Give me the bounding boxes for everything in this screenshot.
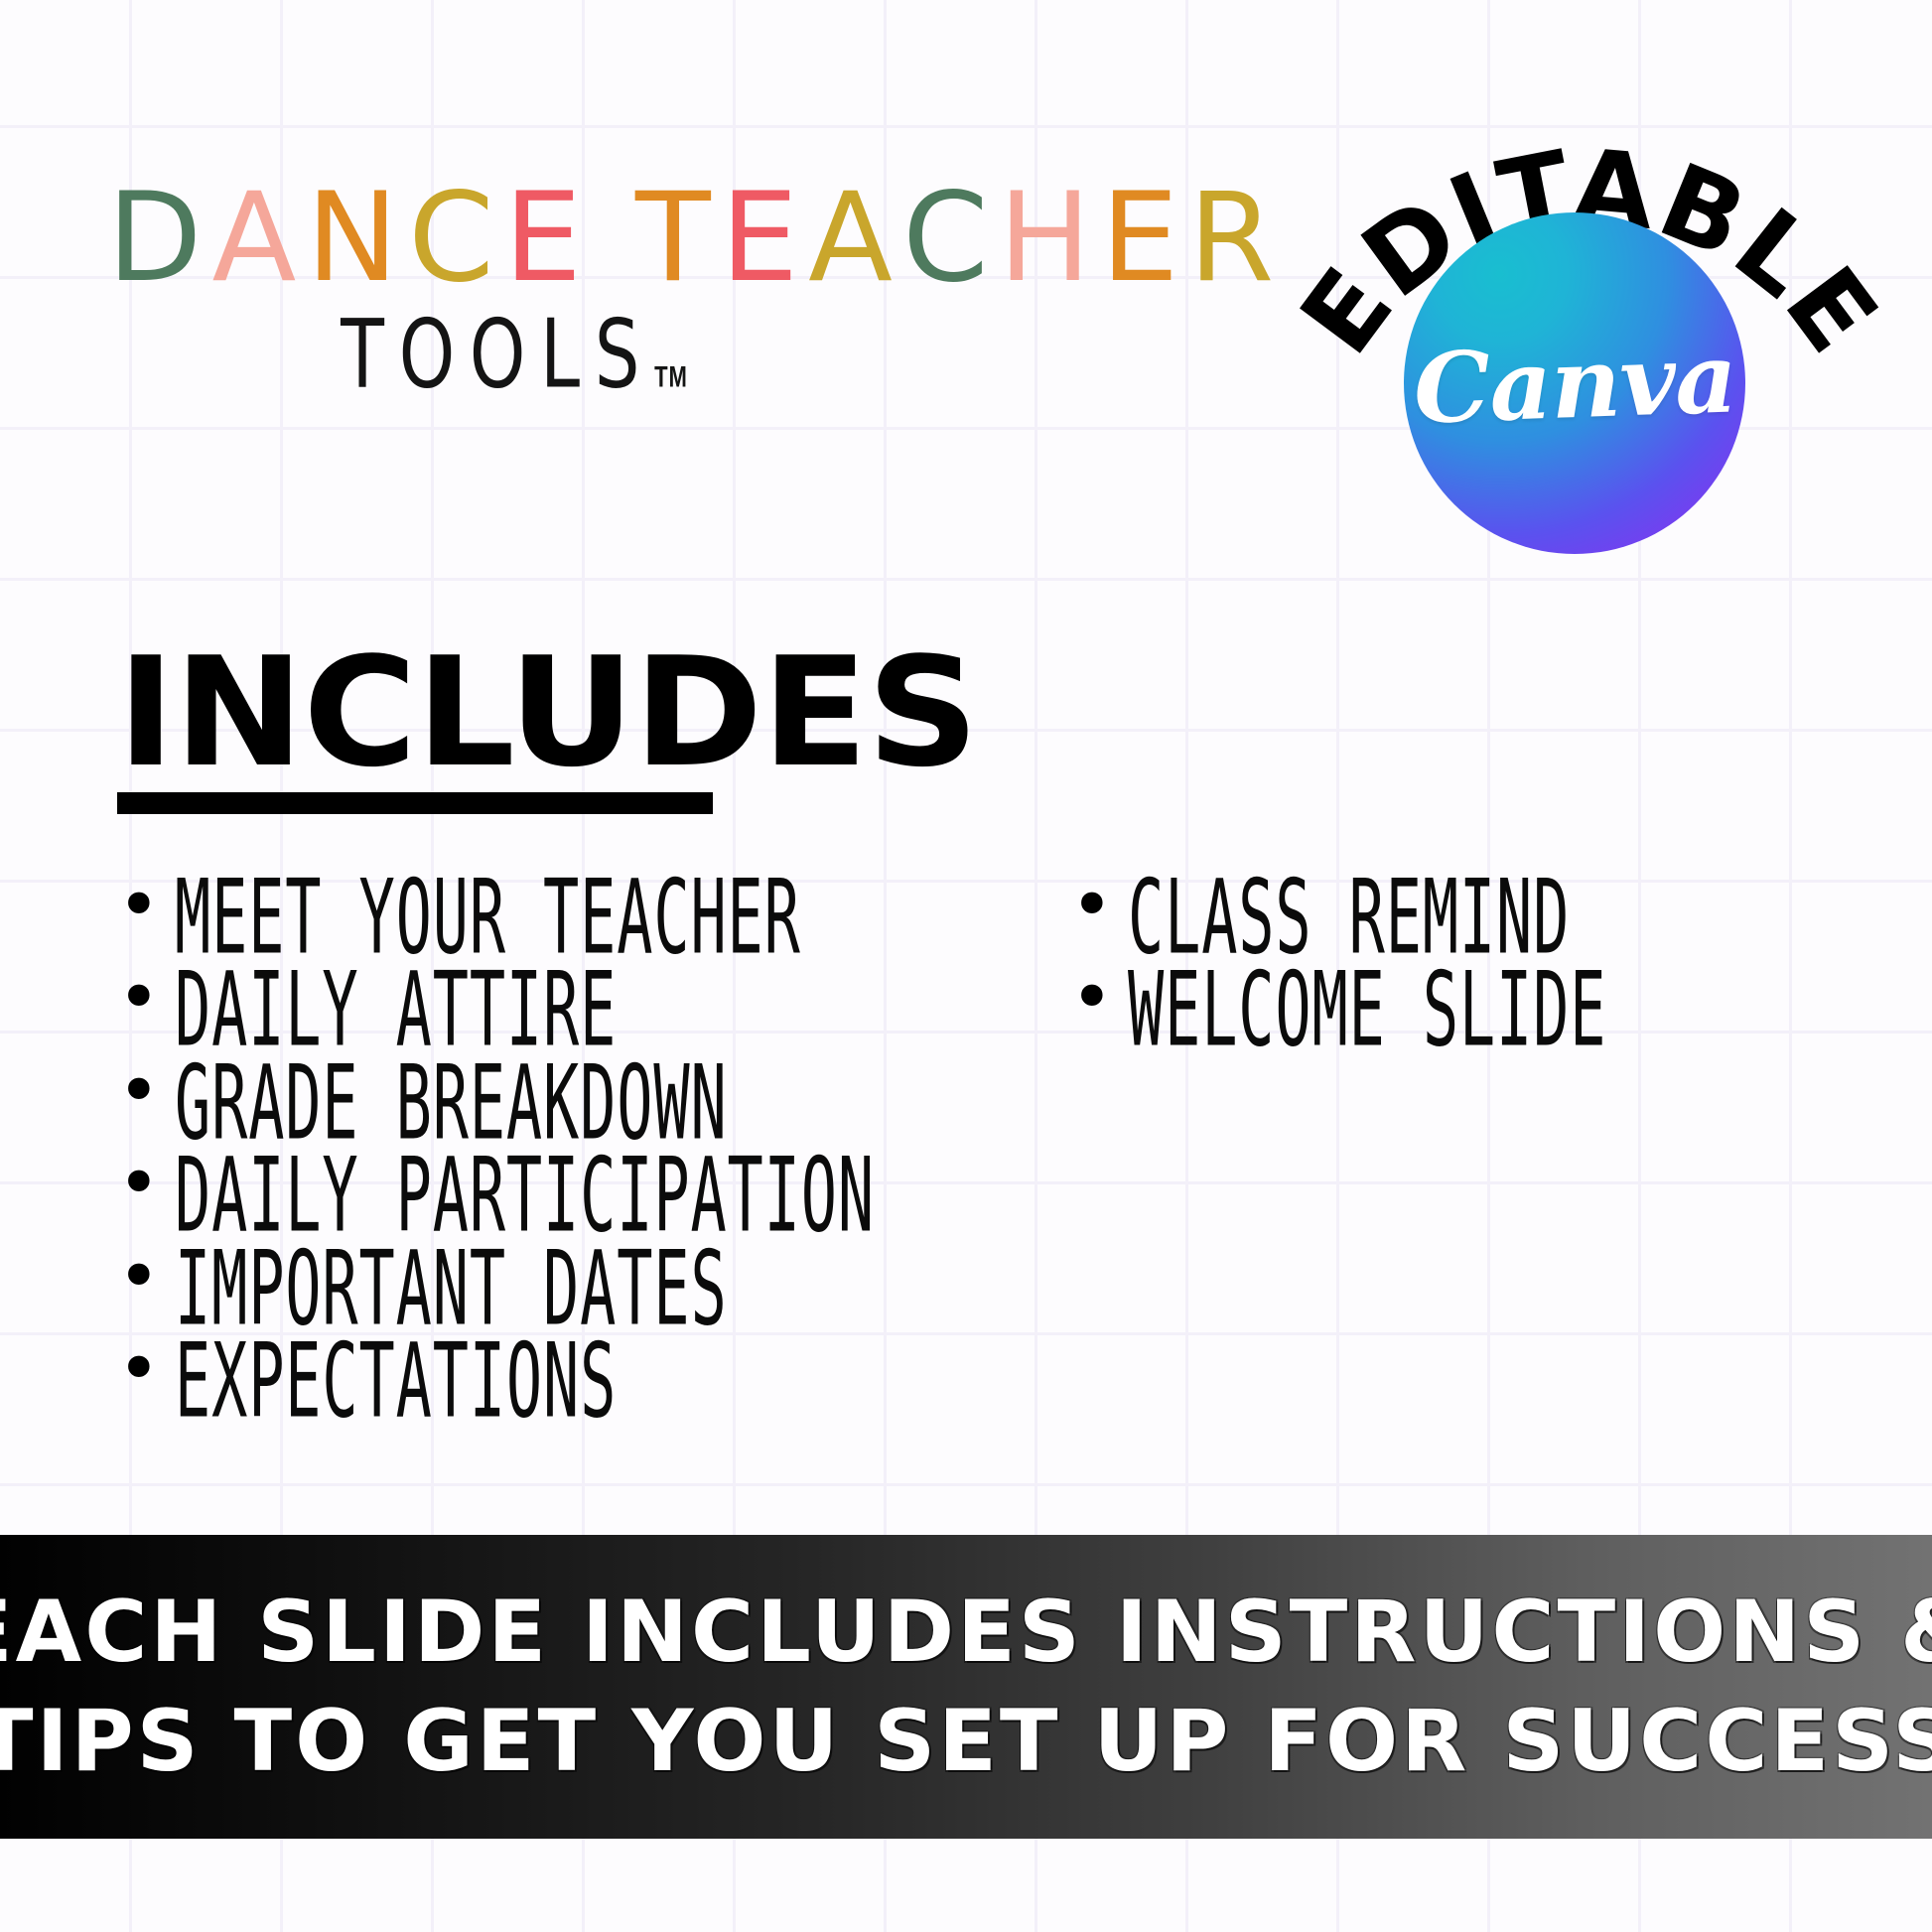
feature-list-left: •MEET YOUR TEACHER•DAILY ATTIRE•GRADE BR…: [117, 856, 1070, 1412]
list-item: •MEET YOUR TEACHER: [117, 856, 1070, 940]
brand-subtext-label: TOOLS: [341, 301, 654, 410]
brand-letter: H: [999, 177, 1101, 300]
brand-wordmark: DANCE TEACHER: [107, 177, 921, 300]
promo-slide: DANCE TEACHER TOOLSTM EDITABLE Canva INC…: [0, 0, 1932, 1932]
canva-wordmark: Canva: [1412, 321, 1738, 445]
list-item: •DAILY PARTICIPATION: [117, 1134, 1070, 1218]
brand-letter: R: [1188, 177, 1284, 300]
brand-letter: E: [721, 177, 808, 300]
brand-letter: E: [504, 177, 592, 300]
includes-feature-lists: •MEET YOUR TEACHER•DAILY ATTIRE•GRADE BR…: [117, 856, 1904, 1412]
page-title: INCLUDES: [117, 643, 978, 782]
canva-circle: Canva: [1404, 212, 1745, 554]
list-item: •CLASS REMIND: [1070, 856, 1904, 940]
bullet-dot-icon: •: [1070, 872, 1114, 939]
brand-letter: C: [408, 177, 504, 300]
feature-list-right: •CLASS REMIND•WELCOME SLIDE: [1070, 856, 1904, 1412]
list-item: •GRADE BREAKDOWN: [117, 1041, 1070, 1126]
list-item: •EXPECTATIONS: [117, 1319, 1070, 1404]
bottom-banner: EACH SLIDE INCLUDES INSTRUCTIONS & TIPS …: [0, 1535, 1932, 1839]
brand-subtext: TOOLSTM: [140, 308, 889, 402]
bullet-dot-icon: •: [117, 964, 161, 1032]
brand-logo: DANCE TEACHER TOOLSTM: [107, 177, 921, 385]
trademark-symbol: TM: [654, 361, 688, 394]
bullet-dot-icon: •: [117, 1150, 161, 1217]
list-item: •IMPORTANT DATES: [117, 1227, 1070, 1311]
bullet-dot-icon: •: [117, 1335, 161, 1403]
brand-letter: A: [808, 177, 902, 300]
bullet-dot-icon: •: [117, 872, 161, 939]
includes-heading: INCLUDES: [117, 643, 953, 814]
banner-line-2: TIPS TO GET YOU SET UP FOR SUCCESS: [0, 1687, 1932, 1796]
list-item: •DAILY ATTIRE: [117, 948, 1070, 1033]
bullet-dot-icon: •: [1070, 964, 1114, 1032]
feature-item-label: WELCOME SLIDE: [1128, 948, 1606, 1073]
brand-letter: D: [107, 177, 211, 300]
brand-letter: A: [211, 177, 306, 300]
brand-letter: C: [902, 177, 999, 300]
bullet-dot-icon: •: [117, 1243, 161, 1311]
brand-letter: [592, 177, 635, 300]
brand-letter: T: [635, 177, 721, 300]
feature-item-label: EXPECTATIONS: [175, 1319, 617, 1445]
bullet-dot-icon: •: [117, 1057, 161, 1125]
editable-canva-badge: EDITABLE Canva: [1291, 62, 1886, 618]
banner-line-1: EACH SLIDE INCLUDES INSTRUCTIONS &: [0, 1578, 1932, 1687]
brand-letter: N: [306, 177, 408, 300]
brand-letter: E: [1101, 177, 1188, 300]
list-item: •WELCOME SLIDE: [1070, 948, 1904, 1033]
